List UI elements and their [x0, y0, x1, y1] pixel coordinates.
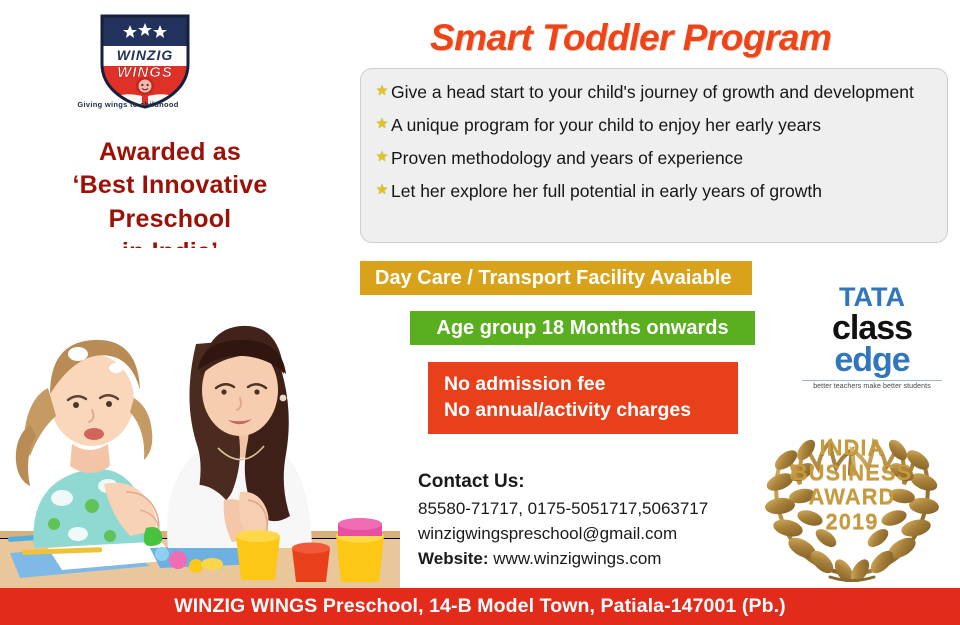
no-fee-line-1: No admission fee: [444, 372, 738, 398]
award-badge-text: INDIA BUSINESS AWARD 2019: [752, 436, 952, 535]
svg-text:WINZIG: WINZIG: [117, 47, 174, 63]
list-item-label: A unique program for your child to enjoy…: [391, 114, 933, 136]
contact-phone[interactable]: 85580-71717, 0175-5051717,5063717: [418, 497, 758, 522]
features-card: ★ Give a head start to your child's jour…: [360, 68, 948, 243]
tata-classedge-logo: TATA class edge better teachers make bet…: [802, 284, 942, 390]
no-fee-line-2: No annual/activity charges: [444, 398, 738, 424]
list-item-label: Proven methodology and years of experien…: [391, 147, 933, 169]
contact-website-row: Website: www.winzigwings.com: [418, 547, 758, 572]
logo-tagline: Giving wings to childhood: [72, 100, 184, 109]
award-badge-line-1: INDIA: [752, 436, 952, 461]
award-badge-line-2: BUSINESS: [752, 461, 952, 486]
india-business-award-badge: INDIA BUSINESS AWARD 2019: [752, 414, 952, 582]
tata-edge-label: edge: [802, 344, 942, 377]
tata-tagline: better teachers make better students: [802, 380, 942, 390]
list-item: ★ A unique program for your child to enj…: [373, 114, 933, 136]
age-group-banner: Age group 18 Months onwards: [410, 311, 755, 345]
daycare-banner: Day Care / Transport Facility Avaiable: [360, 261, 752, 295]
flyer-root: WINZIG WINGS Giving wings to childhood A…: [0, 0, 960, 625]
list-item: ★ Give a head start to your child's jour…: [373, 81, 933, 103]
award-badge-line-3: AWARD: [752, 485, 952, 510]
star-bullet-icon: ★: [373, 114, 391, 133]
no-fee-banner: No admission fee No annual/activity char…: [428, 362, 738, 434]
list-item-label: Let her explore her full potential in ea…: [391, 180, 933, 202]
star-bullet-icon: ★: [373, 81, 391, 100]
award-headline-line-1: Awarded as: [10, 136, 330, 169]
brand-logo: WINZIG WINGS Giving wings to childhood: [78, 8, 288, 128]
contact-heading: Contact Us:: [418, 468, 758, 496]
award-headline-line-2: ‘Best Innovative: [10, 169, 330, 202]
contact-website-value[interactable]: www.winzigwings.com: [493, 549, 661, 568]
shield-emblem-icon: WINZIG WINGS: [96, 10, 194, 114]
award-badge-line-4: 2019: [752, 510, 952, 535]
list-item-label: Give a head start to your child's journe…: [391, 81, 933, 103]
tata-brand-label: TATA: [802, 284, 942, 312]
tata-class-label: class: [802, 312, 942, 345]
page-title: Smart Toddler Program: [430, 17, 900, 59]
svg-text:WINGS: WINGS: [117, 64, 173, 81]
contact-email[interactable]: winzigwingspreschool@gmail.com: [418, 522, 758, 547]
list-item: ★ Proven methodology and years of experi…: [373, 147, 933, 169]
star-bullet-icon: ★: [373, 147, 391, 166]
address-footer: WINZIG WINGS Preschool, 14-B Model Town,…: [0, 588, 960, 625]
contact-block: Contact Us: 85580-71717, 0175-5051717,50…: [418, 468, 758, 572]
hero-photo: [0, 248, 400, 588]
list-item: ★ Let her explore her full potential in …: [373, 180, 933, 202]
contact-website-label: Website:: [418, 549, 489, 568]
star-bullet-icon: ★: [373, 180, 391, 199]
award-headline-line-3: Preschool: [10, 203, 330, 236]
